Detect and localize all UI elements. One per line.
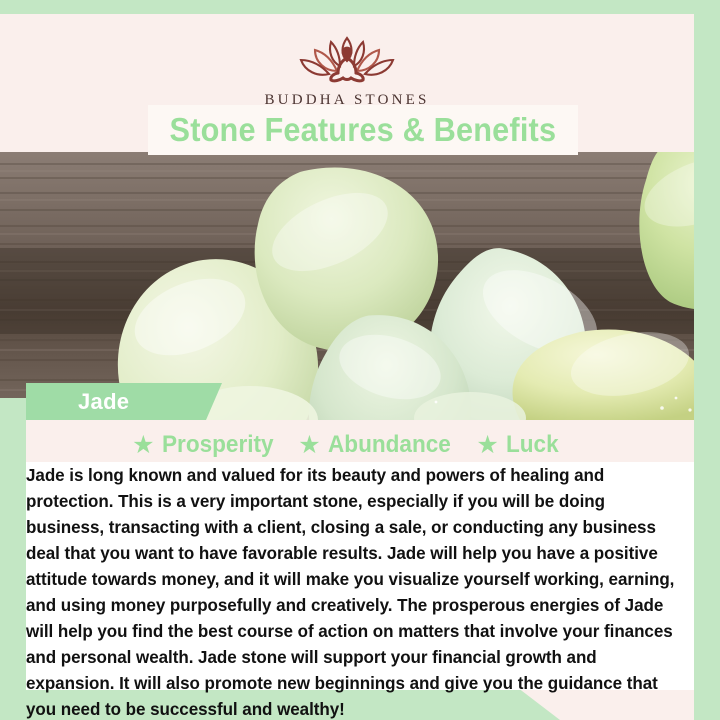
description-text: Jade is long known and valued for its be…: [26, 462, 684, 720]
page-title: Stone Features & Benefits: [170, 111, 557, 149]
keyword-label: Prosperity: [162, 431, 274, 459]
star-icon: ★: [476, 433, 498, 458]
description-panel: Jade is long known and valued for its be…: [26, 462, 694, 690]
star-icon: ★: [298, 433, 320, 458]
top-green-strip: [0, 0, 720, 14]
keyword-label: Abundance: [328, 431, 451, 459]
jade-tumbled-stones-photo: [0, 152, 720, 420]
keyword-label: Luck: [506, 431, 559, 459]
star-icon: ★: [132, 433, 154, 458]
lotus-meditation-icon: [287, 28, 407, 90]
stone-info-card: BUDDHA STONES Stone Features & Benefits: [0, 0, 720, 720]
stone-name: Jade: [78, 389, 129, 415]
photo-illustration: [0, 152, 720, 420]
keyword-prosperity: ★ Prosperity: [132, 431, 280, 459]
stone-label-banner: Jade: [26, 383, 222, 420]
title-banner: Stone Features & Benefits: [148, 105, 578, 155]
keyword-luck: ★ Luck: [476, 431, 561, 459]
keyword-abundance: ★ Abundance: [298, 431, 458, 459]
right-green-strip: [694, 0, 720, 612]
keyword-list: ★ Prosperity ★ Abundance ★ Luck: [0, 428, 694, 462]
